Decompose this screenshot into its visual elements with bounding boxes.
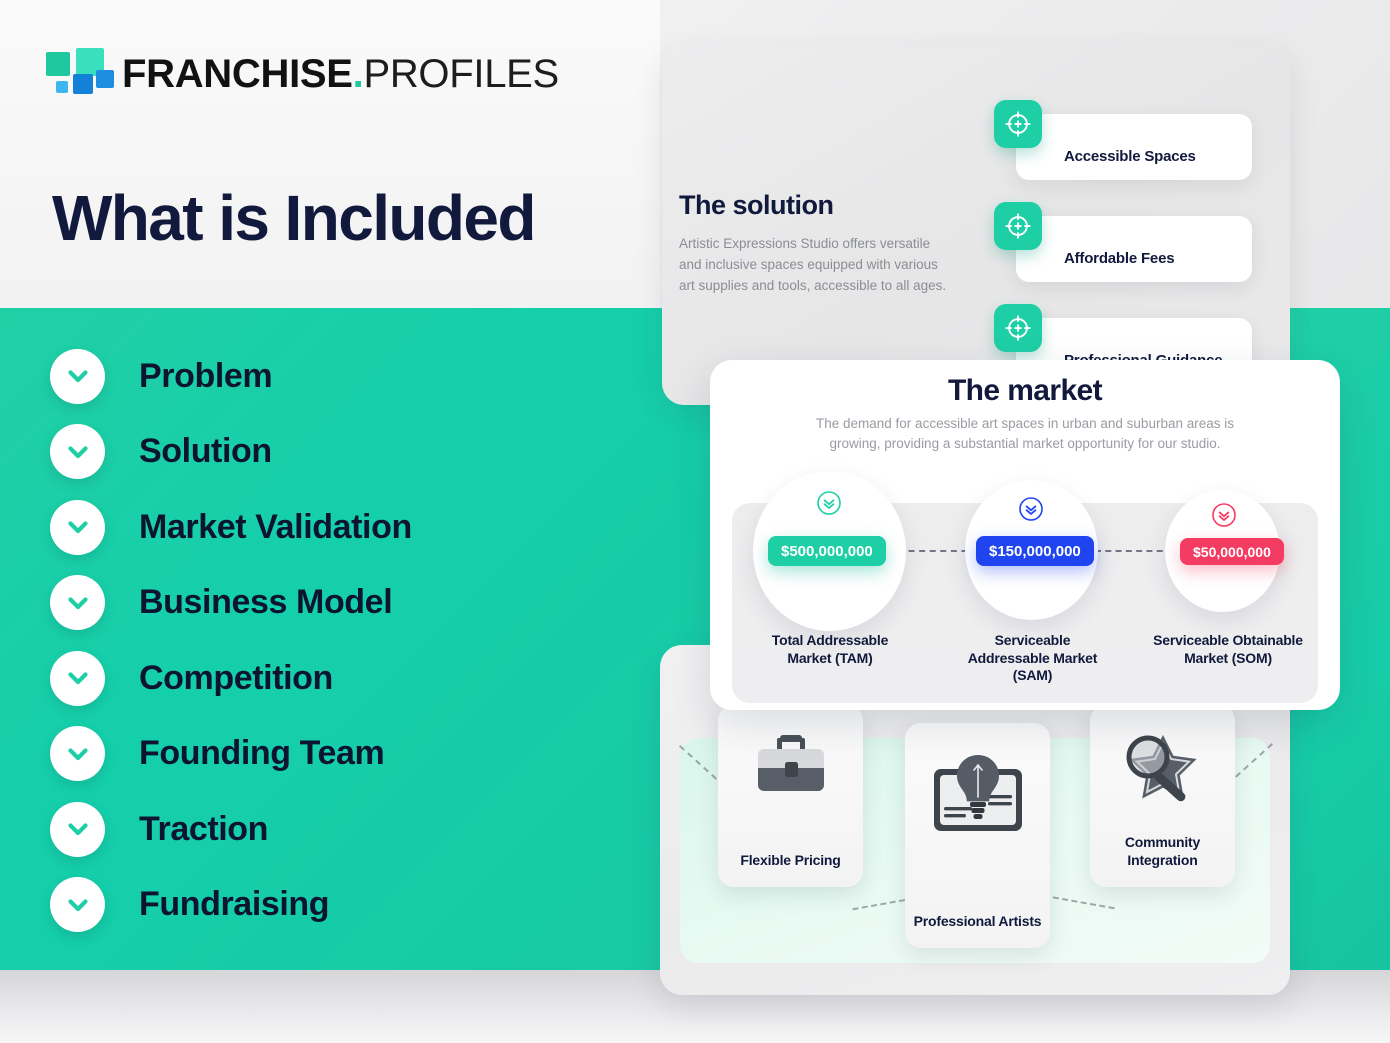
chevron-down-icon[interactable] [50, 349, 105, 404]
brand-logo[interactable]: FRANCHISE.PROFILES [46, 48, 559, 100]
target-crosshair-icon [994, 100, 1042, 148]
market-card[interactable]: The market The demand for accessible art… [710, 360, 1340, 710]
chevron-double-down-icon [1018, 496, 1044, 522]
squares-logo-icon [46, 48, 104, 100]
list-item-label: Traction [139, 810, 268, 849]
lightbulb-certificate-icon [905, 749, 1050, 839]
briefcase-icon [718, 731, 863, 803]
solution-title: The solution [679, 190, 833, 221]
chevron-down-icon[interactable] [50, 726, 105, 781]
list-item[interactable]: Founding Team [50, 726, 610, 782]
solution-feature-pill: Affordable Fees [1016, 216, 1252, 282]
brand-name-light: PROFILES [363, 52, 558, 96]
chevron-double-down-icon [1211, 502, 1237, 528]
chevron-down-icon[interactable] [50, 877, 105, 932]
market-title: The market [710, 374, 1340, 408]
target-crosshair-icon [994, 304, 1042, 352]
list-item-label: Competition [139, 659, 333, 698]
brand-name-bold: FRANCHISE [122, 52, 353, 96]
chevron-down-icon[interactable] [50, 575, 105, 630]
top-left-background [0, 0, 660, 308]
tier-value-badge: $150,000,000 [976, 536, 1094, 566]
solution-feature-label: Affordable Fees [1064, 250, 1174, 267]
solution-feature-label: Accessible Spaces [1064, 148, 1196, 165]
list-item[interactable]: Solution [50, 424, 610, 480]
list-item[interactable]: Fundraising [50, 877, 610, 933]
chevron-down-icon[interactable] [50, 500, 105, 555]
solution-description: Artistic Expressions Studio offers versa… [679, 234, 947, 297]
list-item[interactable]: Competition [50, 650, 610, 706]
list-item[interactable]: Business Model [50, 575, 610, 631]
page-title: What is Included [52, 186, 535, 250]
brand-logo-text: FRANCHISE.PROFILES [122, 54, 559, 94]
brand-dot: . [353, 52, 364, 96]
star-magnifier-icon [1090, 731, 1235, 813]
solution-feature-pill: Accessible Spaces [1016, 114, 1252, 180]
feature-label: Professional Artists [905, 913, 1050, 931]
feature-card-community-integration[interactable]: Community Integration [1090, 705, 1235, 887]
feature-card-flexible-pricing[interactable]: Flexible Pricing [718, 705, 863, 887]
chevron-down-icon[interactable] [50, 651, 105, 706]
tier-value-badge: $50,000,000 [1180, 538, 1284, 565]
list-item-label: Market Validation [139, 508, 412, 547]
chevron-double-down-icon [816, 490, 842, 516]
feature-label: Flexible Pricing [718, 852, 863, 870]
chevron-down-icon[interactable] [50, 424, 105, 479]
tier-label: Serviceable Obtainable Market (SOM) [1153, 632, 1303, 667]
feature-label: Community Integration [1090, 834, 1235, 869]
list-item-label: Problem [139, 357, 272, 396]
included-sections-list: ProblemSolutionMarket ValidationBusiness… [50, 348, 610, 952]
list-item-label: Solution [139, 432, 272, 471]
list-item[interactable]: Problem [50, 348, 610, 404]
market-connector-2 [1095, 550, 1173, 552]
list-item[interactable]: Market Validation [50, 499, 610, 555]
slide-canvas: FRANCHISE.PROFILES What is Included Prob… [0, 0, 1390, 1043]
tier-value-badge: $500,000,000 [768, 536, 886, 566]
chevron-down-icon[interactable] [50, 802, 105, 857]
market-description: The demand for accessible art spaces in … [805, 414, 1245, 455]
list-item-label: Fundraising [139, 885, 329, 924]
tier-label: Total Addressable Market (TAM) [754, 632, 906, 667]
tier-label: Serviceable Addressable Market (SAM) [954, 632, 1111, 685]
solution-card[interactable]: The solution Artistic Expressions Studio… [662, 45, 1290, 405]
target-crosshair-icon [994, 202, 1042, 250]
list-item[interactable]: Traction [50, 801, 610, 857]
list-item-label: Founding Team [139, 734, 384, 773]
list-item-label: Business Model [139, 583, 392, 622]
feature-card-professional-artists[interactable]: Professional Artists [905, 723, 1050, 948]
